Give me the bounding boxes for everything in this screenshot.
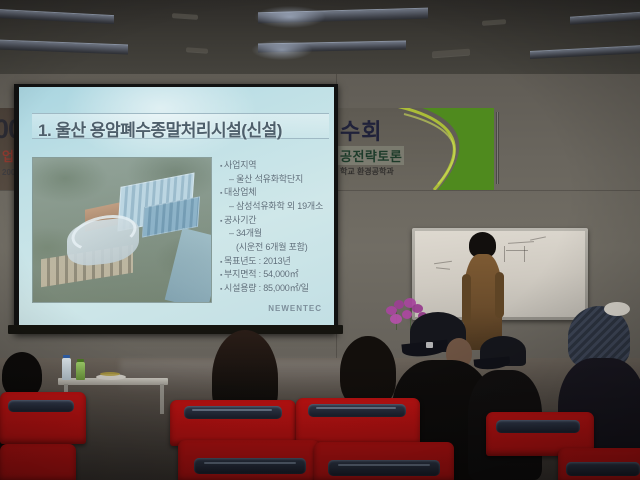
slide-title-box: 1. 울산 용암폐수종말처리시설(신설)	[32, 113, 329, 139]
cap-brim	[401, 340, 448, 359]
banner-subtitle: 공전략토론	[338, 146, 404, 165]
banner-affiliation: 학교 환경공학과	[340, 166, 394, 177]
auditorium-seat[interactable]	[0, 392, 86, 444]
plate-food	[100, 372, 120, 376]
bottle-cap	[63, 355, 70, 358]
slide-aerial-photo	[32, 157, 212, 303]
slide-bullet: – 34개월	[220, 227, 328, 241]
slide-bullet: 공사기간	[220, 214, 328, 228]
ceiling-light-fixture	[530, 45, 640, 59]
banner-left-red-text: 업	[2, 146, 14, 165]
presentation-slide: 1. 울산 용암폐수종말처리시설(신설)	[19, 87, 334, 329]
cap-brim	[474, 356, 511, 370]
banner-right: 수회 공전략토론 학교 환경공학과	[336, 108, 494, 190]
slide-bullet: 시설용량 : 85,000㎡/일	[220, 282, 328, 296]
auditorium-seat[interactable]	[296, 398, 420, 446]
ceiling-light-fixture	[0, 39, 128, 54]
auditorium-seat[interactable]	[558, 448, 640, 480]
slide-company-logo: NEWENTEC	[268, 304, 322, 313]
table-leg	[160, 384, 164, 414]
water-bottle	[62, 358, 71, 380]
ceiling-light-glow	[255, 6, 325, 28]
auditorium-seat[interactable]	[314, 442, 454, 480]
ceiling-light-fixture	[0, 9, 114, 24]
auditorium-seat[interactable]	[0, 444, 76, 480]
ceiling-vent	[172, 13, 198, 19]
slide-bullet: – 삼성석유화학 외 19개소	[220, 200, 328, 214]
ceiling-light-fixture	[570, 11, 640, 25]
slide-bullet: 부지면적 : 54,000㎡	[220, 268, 328, 282]
auditorium-seat[interactable]	[178, 440, 320, 480]
bottle-cap	[77, 359, 84, 362]
ceiling-light-glow	[252, 40, 312, 60]
presenter-arm	[495, 272, 504, 318]
green-bottle	[76, 362, 85, 380]
lecture-hall-scene: 00 업 2009. 수회 공전략토론 학교 환경공학과 1. 울산 용암폐수종…	[0, 0, 640, 480]
cap-logo	[426, 342, 433, 348]
slide-body: 사업지역 – 울산 석유화학단지 대상업체 – 삼성석유화학 외 19개소 공사…	[32, 157, 328, 299]
slide-bullet: 목표년도 : 2013년	[220, 255, 328, 269]
slide-title: 1. 울산 용암폐수종말처리시설(신설)	[38, 116, 282, 141]
slide-bullet: 대상업체	[220, 186, 328, 200]
slide-bullet: 사업지역	[220, 159, 328, 173]
ceiling-vent	[482, 19, 506, 25]
audience-member-with-cap	[474, 336, 536, 480]
projection-screen: 1. 울산 용암폐수종말처리시설(신설)	[19, 87, 334, 329]
slide-bullet: (시운전 6개월 포함)	[220, 241, 328, 255]
ceiling	[0, 0, 640, 78]
banner-title: 수회	[340, 114, 382, 146]
ceiling-vent	[186, 47, 208, 53]
hat-highlight	[604, 302, 630, 316]
slide-bullet-list: 사업지역 – 울산 석유화학단지 대상업체 – 삼성석유화학 외 19개소 공사…	[212, 157, 328, 299]
slide-bullet: – 울산 석유화학단지	[220, 173, 328, 187]
ceiling-speaker	[432, 49, 470, 58]
banner-pole	[496, 112, 499, 184]
projection-screen-frame: 1. 울산 용암폐수종말처리시설(신설)	[14, 84, 338, 334]
